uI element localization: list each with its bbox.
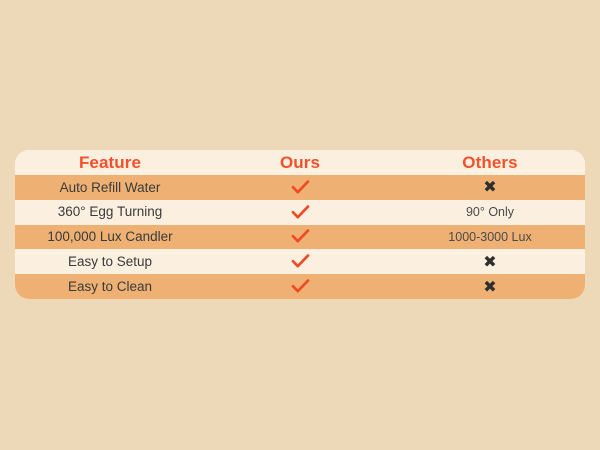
- header-cell-ours: Ours: [205, 150, 395, 175]
- header-cell-feature: Feature: [15, 150, 205, 175]
- check-icon: [291, 254, 310, 269]
- cell-ours: [205, 175, 395, 200]
- cell-ours: [205, 200, 395, 225]
- feature-label: 100,000 Lux Candler: [47, 230, 172, 244]
- cell-others: ✖: [395, 175, 585, 200]
- cross-icon: ✖: [483, 254, 496, 270]
- table-row: 100,000 Lux Candler 1000-3000 Lux: [15, 225, 585, 250]
- header-label-others: Others: [462, 154, 517, 171]
- cell-ours: [205, 274, 395, 299]
- cell-others: 90° Only: [395, 200, 585, 225]
- cell-others: ✖: [395, 249, 585, 274]
- table-row: Auto Refill Water ✖: [15, 175, 585, 200]
- others-label: 1000-3000 Lux: [448, 231, 531, 244]
- header-label-feature: Feature: [79, 154, 141, 171]
- cross-icon: ✖: [483, 279, 496, 295]
- check-icon: [291, 180, 310, 195]
- cell-feature: Easy to Clean: [15, 274, 205, 299]
- cell-ours: [205, 249, 395, 274]
- cross-icon: ✖: [483, 179, 496, 195]
- table-row: Easy to Clean ✖: [15, 274, 585, 299]
- check-icon: [291, 205, 310, 220]
- table-row: 360° Egg Turning 90° Only: [15, 200, 585, 225]
- check-icon: [291, 279, 310, 294]
- feature-label: Easy to Clean: [68, 280, 152, 294]
- header-cell-others: Others: [395, 150, 585, 175]
- table-header-row: Feature Ours Others: [15, 150, 585, 175]
- feature-label: 360° Egg Turning: [58, 205, 162, 219]
- cell-others: 1000-3000 Lux: [395, 225, 585, 250]
- cell-feature: 100,000 Lux Candler: [15, 225, 205, 250]
- comparison-stage: Feature Ours Others Auto Refill Water: [0, 0, 600, 450]
- header-label-ours: Ours: [280, 154, 320, 171]
- feature-comparison-table: Feature Ours Others Auto Refill Water: [15, 150, 585, 299]
- cell-feature: Auto Refill Water: [15, 175, 205, 200]
- check-icon: [291, 229, 310, 244]
- cell-others: ✖: [395, 274, 585, 299]
- cell-ours: [205, 225, 395, 250]
- cell-feature: 360° Egg Turning: [15, 200, 205, 225]
- others-label: 90° Only: [466, 206, 514, 219]
- feature-label: Easy to Setup: [68, 255, 152, 269]
- cell-feature: Easy to Setup: [15, 249, 205, 274]
- feature-label: Auto Refill Water: [60, 181, 161, 195]
- table-row: Easy to Setup ✖: [15, 249, 585, 274]
